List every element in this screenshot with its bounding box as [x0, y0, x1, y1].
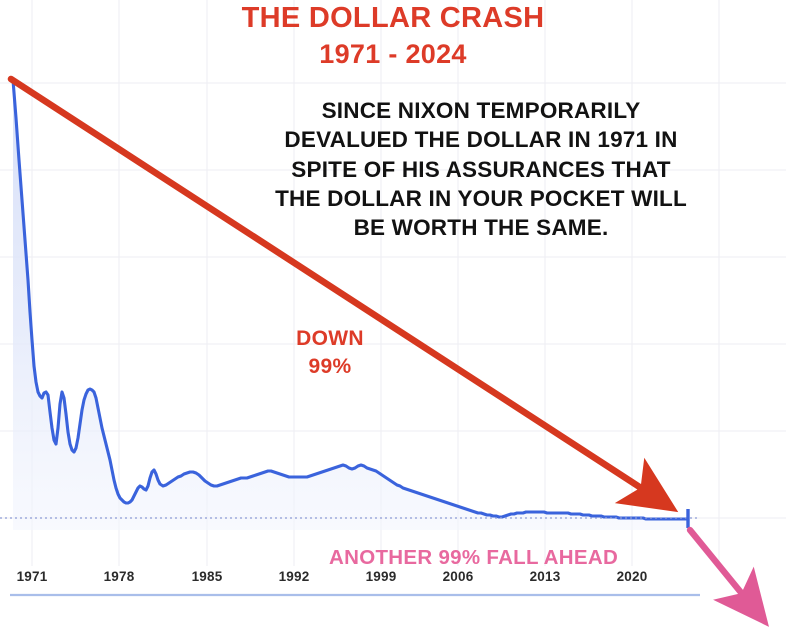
chart-svg	[0, 0, 786, 627]
dollar-crash-infographic: THE DOLLAR CRASH 1971 - 2024 SINCE NIXON…	[0, 0, 786, 627]
chart-plot-area	[0, 0, 786, 627]
red-decline-arrow	[11, 79, 655, 497]
